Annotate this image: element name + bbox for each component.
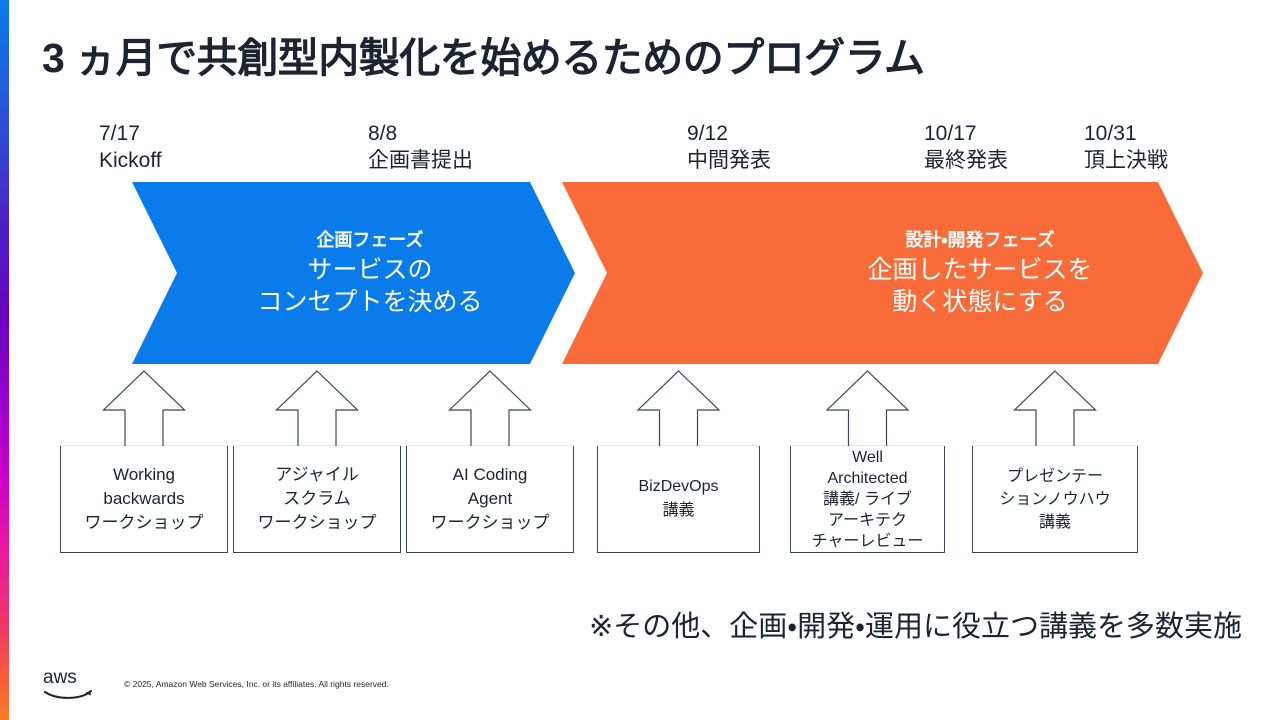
phase-label-planning: 企画フェーズ サービスの コンセプトを決める bbox=[180, 227, 560, 318]
milestone-championship: 10/31 頂上決戦 bbox=[1084, 120, 1168, 174]
activity-line: ワークショップ bbox=[65, 511, 223, 535]
milestone-label: 中間発表 bbox=[687, 147, 771, 174]
activity-box: AI Coding Agent ワークショップ bbox=[406, 446, 574, 553]
activity-line: アーキテク bbox=[795, 510, 940, 531]
milestone-label: Kickoff bbox=[99, 147, 162, 174]
arrow-wrap bbox=[233, 368, 401, 446]
phase-chevron-band: 企画フェーズ サービスの コンセプトを決める 設計・開発フェーズ 企画したサービ… bbox=[0, 182, 1280, 364]
arrow-wrap bbox=[790, 368, 945, 446]
activity-line: BizDevOps bbox=[602, 475, 755, 499]
activity-line: Agent bbox=[411, 487, 569, 511]
activity-unit-agile-scrum: アジャイル スクラム ワークショップ bbox=[233, 368, 401, 553]
milestone-kickoff: 7/17 Kickoff bbox=[99, 120, 162, 174]
milestone-label: 最終発表 bbox=[924, 147, 1008, 174]
activity-line: 講義 bbox=[602, 499, 755, 523]
milestone-label: 頂上決戦 bbox=[1084, 147, 1168, 174]
up-arrow-icon bbox=[60, 368, 228, 447]
up-arrow-icon bbox=[406, 368, 574, 447]
activity-box: アジャイル スクラム ワークショップ bbox=[233, 446, 401, 553]
activity-unit-bizdevops: BizDevOps 講義 bbox=[597, 368, 760, 553]
activity-line: Working bbox=[65, 463, 223, 487]
activity-line: AI Coding bbox=[411, 463, 569, 487]
milestone-midterm: 9/12 中間発表 bbox=[687, 120, 771, 174]
phase-body-line2: 動く状態にする bbox=[610, 286, 1280, 318]
slide-canvas: 3 ヵ月で共創型内製化を始めるためのプログラム 7/17 Kickoff 8/8… bbox=[0, 0, 1280, 720]
phase-heading: 企画フェーズ bbox=[180, 227, 560, 253]
activity-unit-working-backwards: Working backwards ワークショップ bbox=[60, 368, 228, 553]
arrow-wrap bbox=[972, 368, 1138, 446]
arrow-wrap bbox=[406, 368, 574, 446]
activity-box: プレゼンテー ションノウハウ 講義 bbox=[972, 446, 1138, 553]
milestone-date: 10/17 bbox=[924, 120, 1008, 147]
activity-box: Working backwards ワークショップ bbox=[60, 446, 228, 553]
phase-heading: 設計・開発フェーズ bbox=[610, 227, 1280, 253]
phase-body-line1: サービスの bbox=[180, 254, 560, 286]
milestone-date: 7/17 bbox=[99, 120, 162, 147]
milestone-final: 10/17 最終発表 bbox=[924, 120, 1008, 174]
milestone-proposal: 8/8 企画書提出 bbox=[368, 120, 473, 174]
arrow-wrap bbox=[60, 368, 228, 446]
activity-line: プレゼンテー bbox=[977, 465, 1133, 488]
up-arrow-icon bbox=[972, 368, 1138, 447]
milestone-label: 企画書提出 bbox=[368, 147, 473, 174]
up-arrow-icon bbox=[790, 368, 945, 447]
phase-label-design-development: 設計・開発フェーズ 企画したサービスを 動く状態にする bbox=[610, 227, 1280, 318]
activity-line: チャーレビュー bbox=[795, 531, 940, 552]
activity-line: ワークショップ bbox=[238, 511, 396, 535]
up-arrow-icon bbox=[233, 368, 401, 447]
aws-wordmark-text: aws bbox=[43, 667, 77, 688]
footnote-text: ※その他、企画・開発・運用に役立つ講義を多数実施 bbox=[589, 608, 1242, 646]
milestone-date: 9/12 bbox=[687, 120, 771, 147]
activity-unit-well-architected: Well Architected 講義/ ライブ アーキテク チャーレビュー bbox=[790, 368, 945, 553]
activity-unit-ai-coding-agent: AI Coding Agent ワークショップ bbox=[406, 368, 574, 553]
milestone-date: 10/31 bbox=[1084, 120, 1168, 147]
activity-line: スクラム bbox=[238, 487, 396, 511]
activity-line: backwards bbox=[65, 487, 223, 511]
activity-line: 講義 bbox=[977, 511, 1133, 534]
activity-line: Architected bbox=[795, 468, 940, 489]
activity-line: アジャイル bbox=[238, 463, 396, 487]
arrow-wrap bbox=[597, 368, 760, 446]
copyright-text: © 2025, Amazon Web Services, Inc. or its… bbox=[124, 679, 389, 689]
activity-box: Well Architected 講義/ ライブ アーキテク チャーレビュー bbox=[790, 446, 945, 553]
activity-line: Well bbox=[795, 447, 940, 468]
aws-logo: aws bbox=[41, 666, 97, 700]
milestone-date: 8/8 bbox=[368, 120, 473, 147]
activity-line: 講義/ ライブ bbox=[795, 489, 940, 510]
activity-unit-presentation-knowhow: プレゼンテー ションノウハウ 講義 bbox=[972, 368, 1138, 553]
up-arrow-icon bbox=[597, 368, 760, 447]
phase-body-line2: コンセプトを決める bbox=[180, 286, 560, 318]
activity-line: ワークショップ bbox=[411, 511, 569, 535]
page-title: 3 ヵ月で共創型内製化を始めるためのプログラム bbox=[42, 24, 924, 84]
phase-body-line1: 企画したサービスを bbox=[610, 254, 1280, 286]
activity-box: BizDevOps 講義 bbox=[597, 446, 760, 553]
activity-line: ションノウハウ bbox=[977, 488, 1133, 511]
